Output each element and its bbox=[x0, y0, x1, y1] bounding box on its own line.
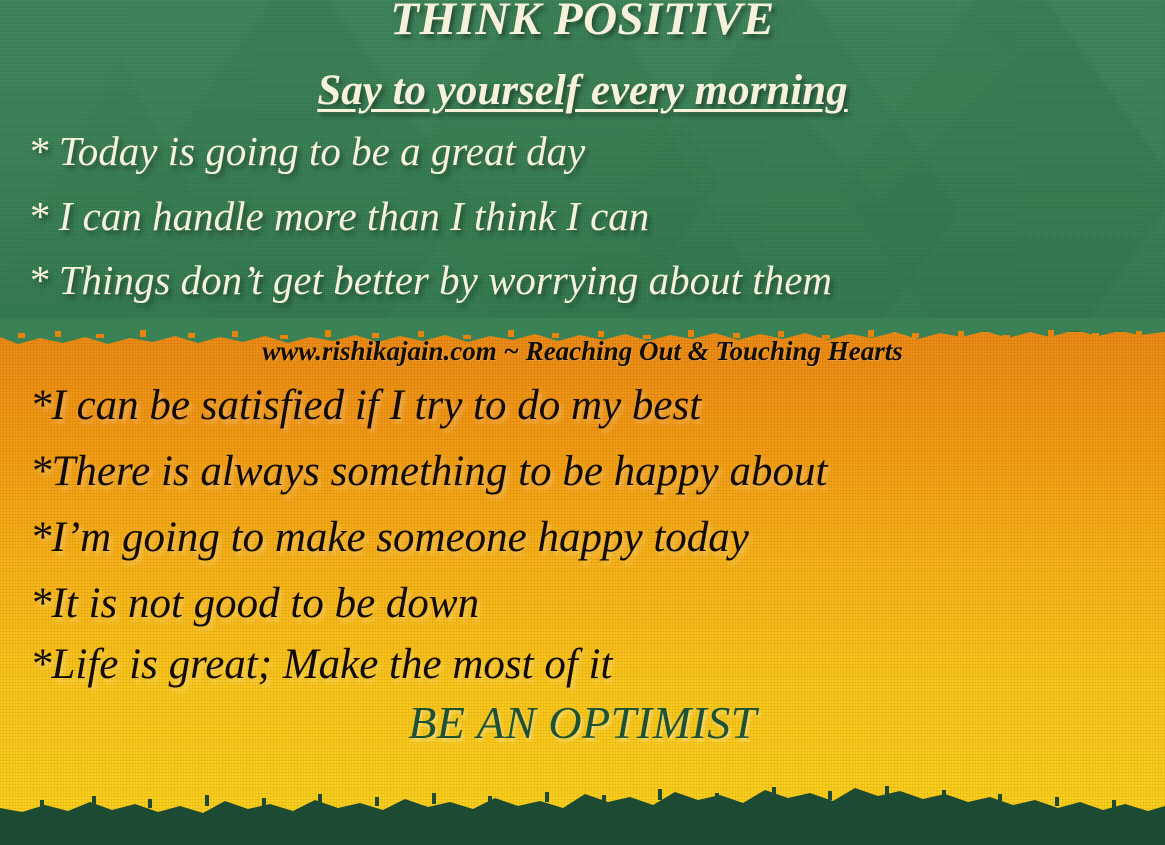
poster-text-layer: THINK POSITIVE Say to yourself every mor… bbox=[0, 0, 1165, 845]
green-affirmation-item: * Things don’t get better by worrying ab… bbox=[28, 256, 1148, 304]
orange-affirmation-item: *It is not good to be down bbox=[30, 579, 1155, 628]
orange-affirmation-item: *There is always something to be happy a… bbox=[30, 447, 1155, 496]
motivational-poster: THINK POSITIVE Say to yourself every mor… bbox=[0, 0, 1165, 845]
orange-affirmation-item: *I can be satisfied if I try to do my be… bbox=[30, 381, 1155, 430]
green-affirmation-item: * I can handle more than I think I can bbox=[28, 192, 1148, 240]
poster-title: THINK POSITIVE bbox=[0, 0, 1165, 46]
poster-subtitle: Say to yourself every morning bbox=[0, 66, 1165, 115]
green-affirmation-item: * Today is going to be a great day bbox=[28, 127, 1148, 175]
orange-affirmation-item: *I’m going to make someone happy today bbox=[30, 513, 1155, 562]
poster-closing-statement: BE AN OPTIMIST bbox=[0, 696, 1165, 749]
orange-affirmation-item: *Life is great; Make the most of it bbox=[30, 640, 1155, 689]
website-credit: www.rishikajain.com ~ Reaching Out & Tou… bbox=[0, 336, 1165, 367]
